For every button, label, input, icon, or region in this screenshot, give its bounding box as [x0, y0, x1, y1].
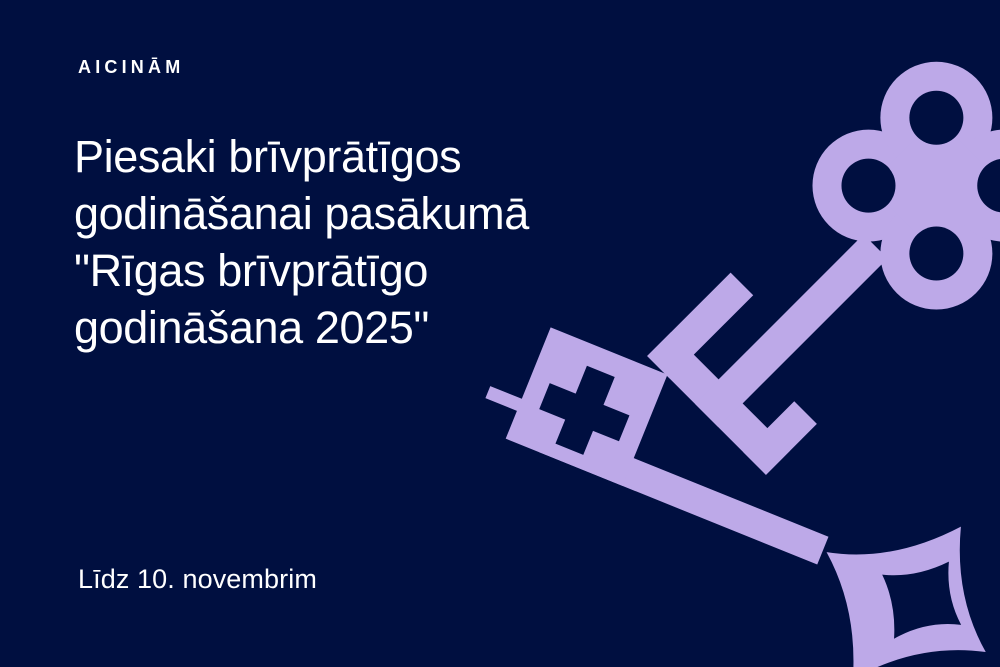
page-title: Piesaki brīvprātīgos godināšanai pasākum… [74, 128, 714, 356]
deadline-label: Līdz 10. novembrim [78, 563, 317, 595]
poster-text-content: AICINĀM Piesaki brīvprātīgos godināšanai… [0, 0, 1000, 667]
headline-line-1: Piesaki brīvprātīgos [74, 128, 714, 185]
headline-line-4: godināšana 2025" [74, 299, 714, 356]
headline-line-3: "Rīgas brīvprātīgo [74, 242, 714, 299]
promo-poster: AICINĀM Piesaki brīvprātīgos godināšanai… [0, 0, 1000, 667]
eyebrow-label: AICINĀM [78, 58, 184, 76]
headline-line-2: godināšanai pasākumā [74, 185, 714, 242]
